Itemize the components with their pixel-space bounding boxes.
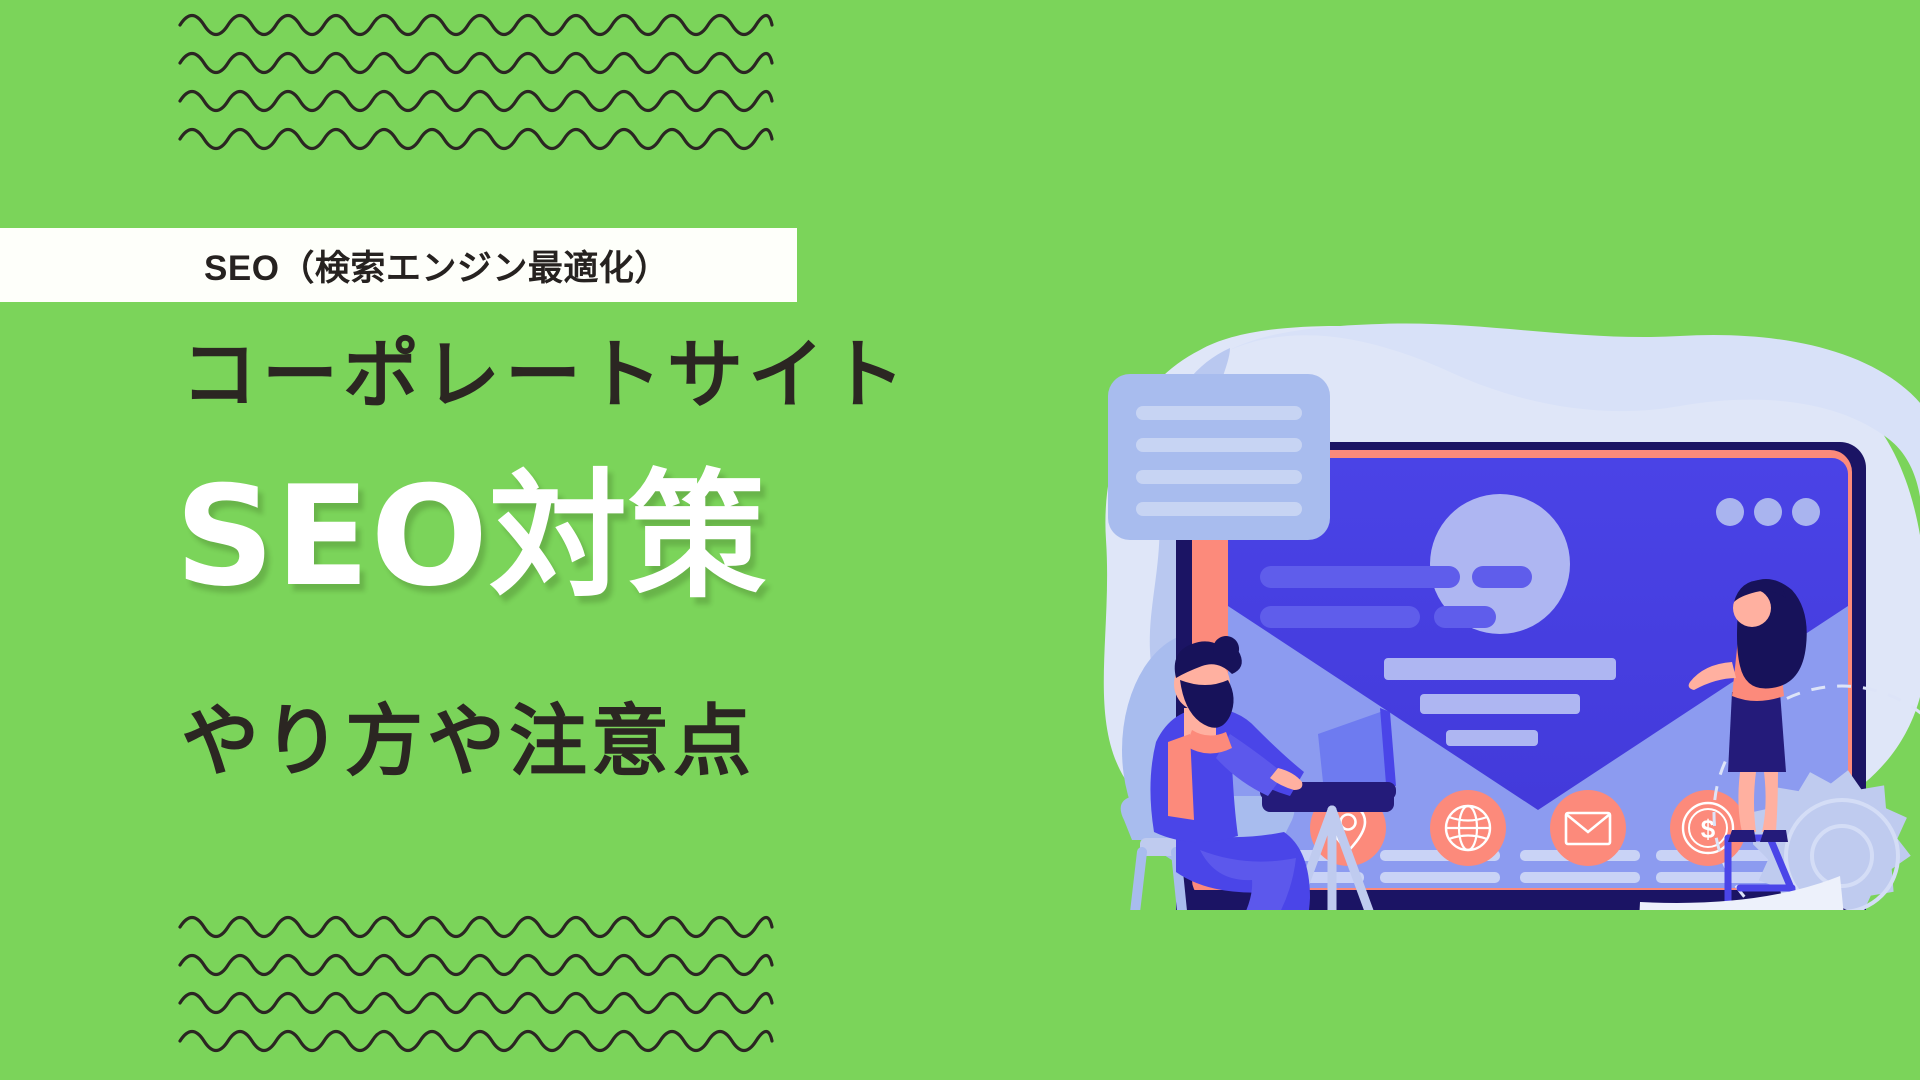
envelope-icon <box>1550 790 1626 866</box>
document-card <box>1108 374 1330 540</box>
content-bar <box>1472 566 1532 588</box>
card-line <box>1136 438 1302 452</box>
content-bar <box>1260 566 1460 588</box>
dollar-coin-icon: $ <box>1670 790 1746 866</box>
hero-subtitle-bottom: やり方や注意点 <box>181 703 755 781</box>
content-bar <box>1260 606 1420 628</box>
content-bar <box>1446 730 1538 746</box>
ladder-person-skirt <box>1728 692 1786 772</box>
hero-banner: SEO（検索エンジン最適化） コーポレートサイト SEO対策 やり方や注意点 <box>0 0 1920 1080</box>
content-bar <box>1420 694 1580 714</box>
seated-person-shirt-side <box>1168 734 1194 820</box>
ladder-person-leg <box>1738 772 1756 832</box>
hero-title: SEO対策 <box>175 468 767 606</box>
content-bar <box>1434 606 1496 628</box>
eyebrow-badge: SEO（検索エンジン最適化） <box>0 228 797 302</box>
ladder-person-shoe <box>1728 830 1756 842</box>
seated-person-hair-bun <box>1213 636 1239 662</box>
eyebrow-label: SEO（検索エンジン最適化） <box>204 240 670 291</box>
window-dot <box>1792 498 1820 526</box>
content-bar <box>1384 658 1616 680</box>
card-line <box>1136 406 1302 420</box>
hero-illustration: $ <box>1080 290 1920 910</box>
window-dot <box>1716 498 1744 526</box>
window-dots-group <box>1716 498 1820 526</box>
globe-icon <box>1430 790 1506 866</box>
ladder-person-shoe <box>1760 830 1788 842</box>
hero-text-column: SEO（検索エンジン最適化） コーポレートサイト SEO対策 やり方や注意点 <box>0 0 1100 1080</box>
window-dot <box>1754 498 1782 526</box>
hero-subtitle-top: コーポレートサイト <box>181 337 910 413</box>
card-line <box>1136 470 1302 484</box>
card-line <box>1136 502 1302 516</box>
